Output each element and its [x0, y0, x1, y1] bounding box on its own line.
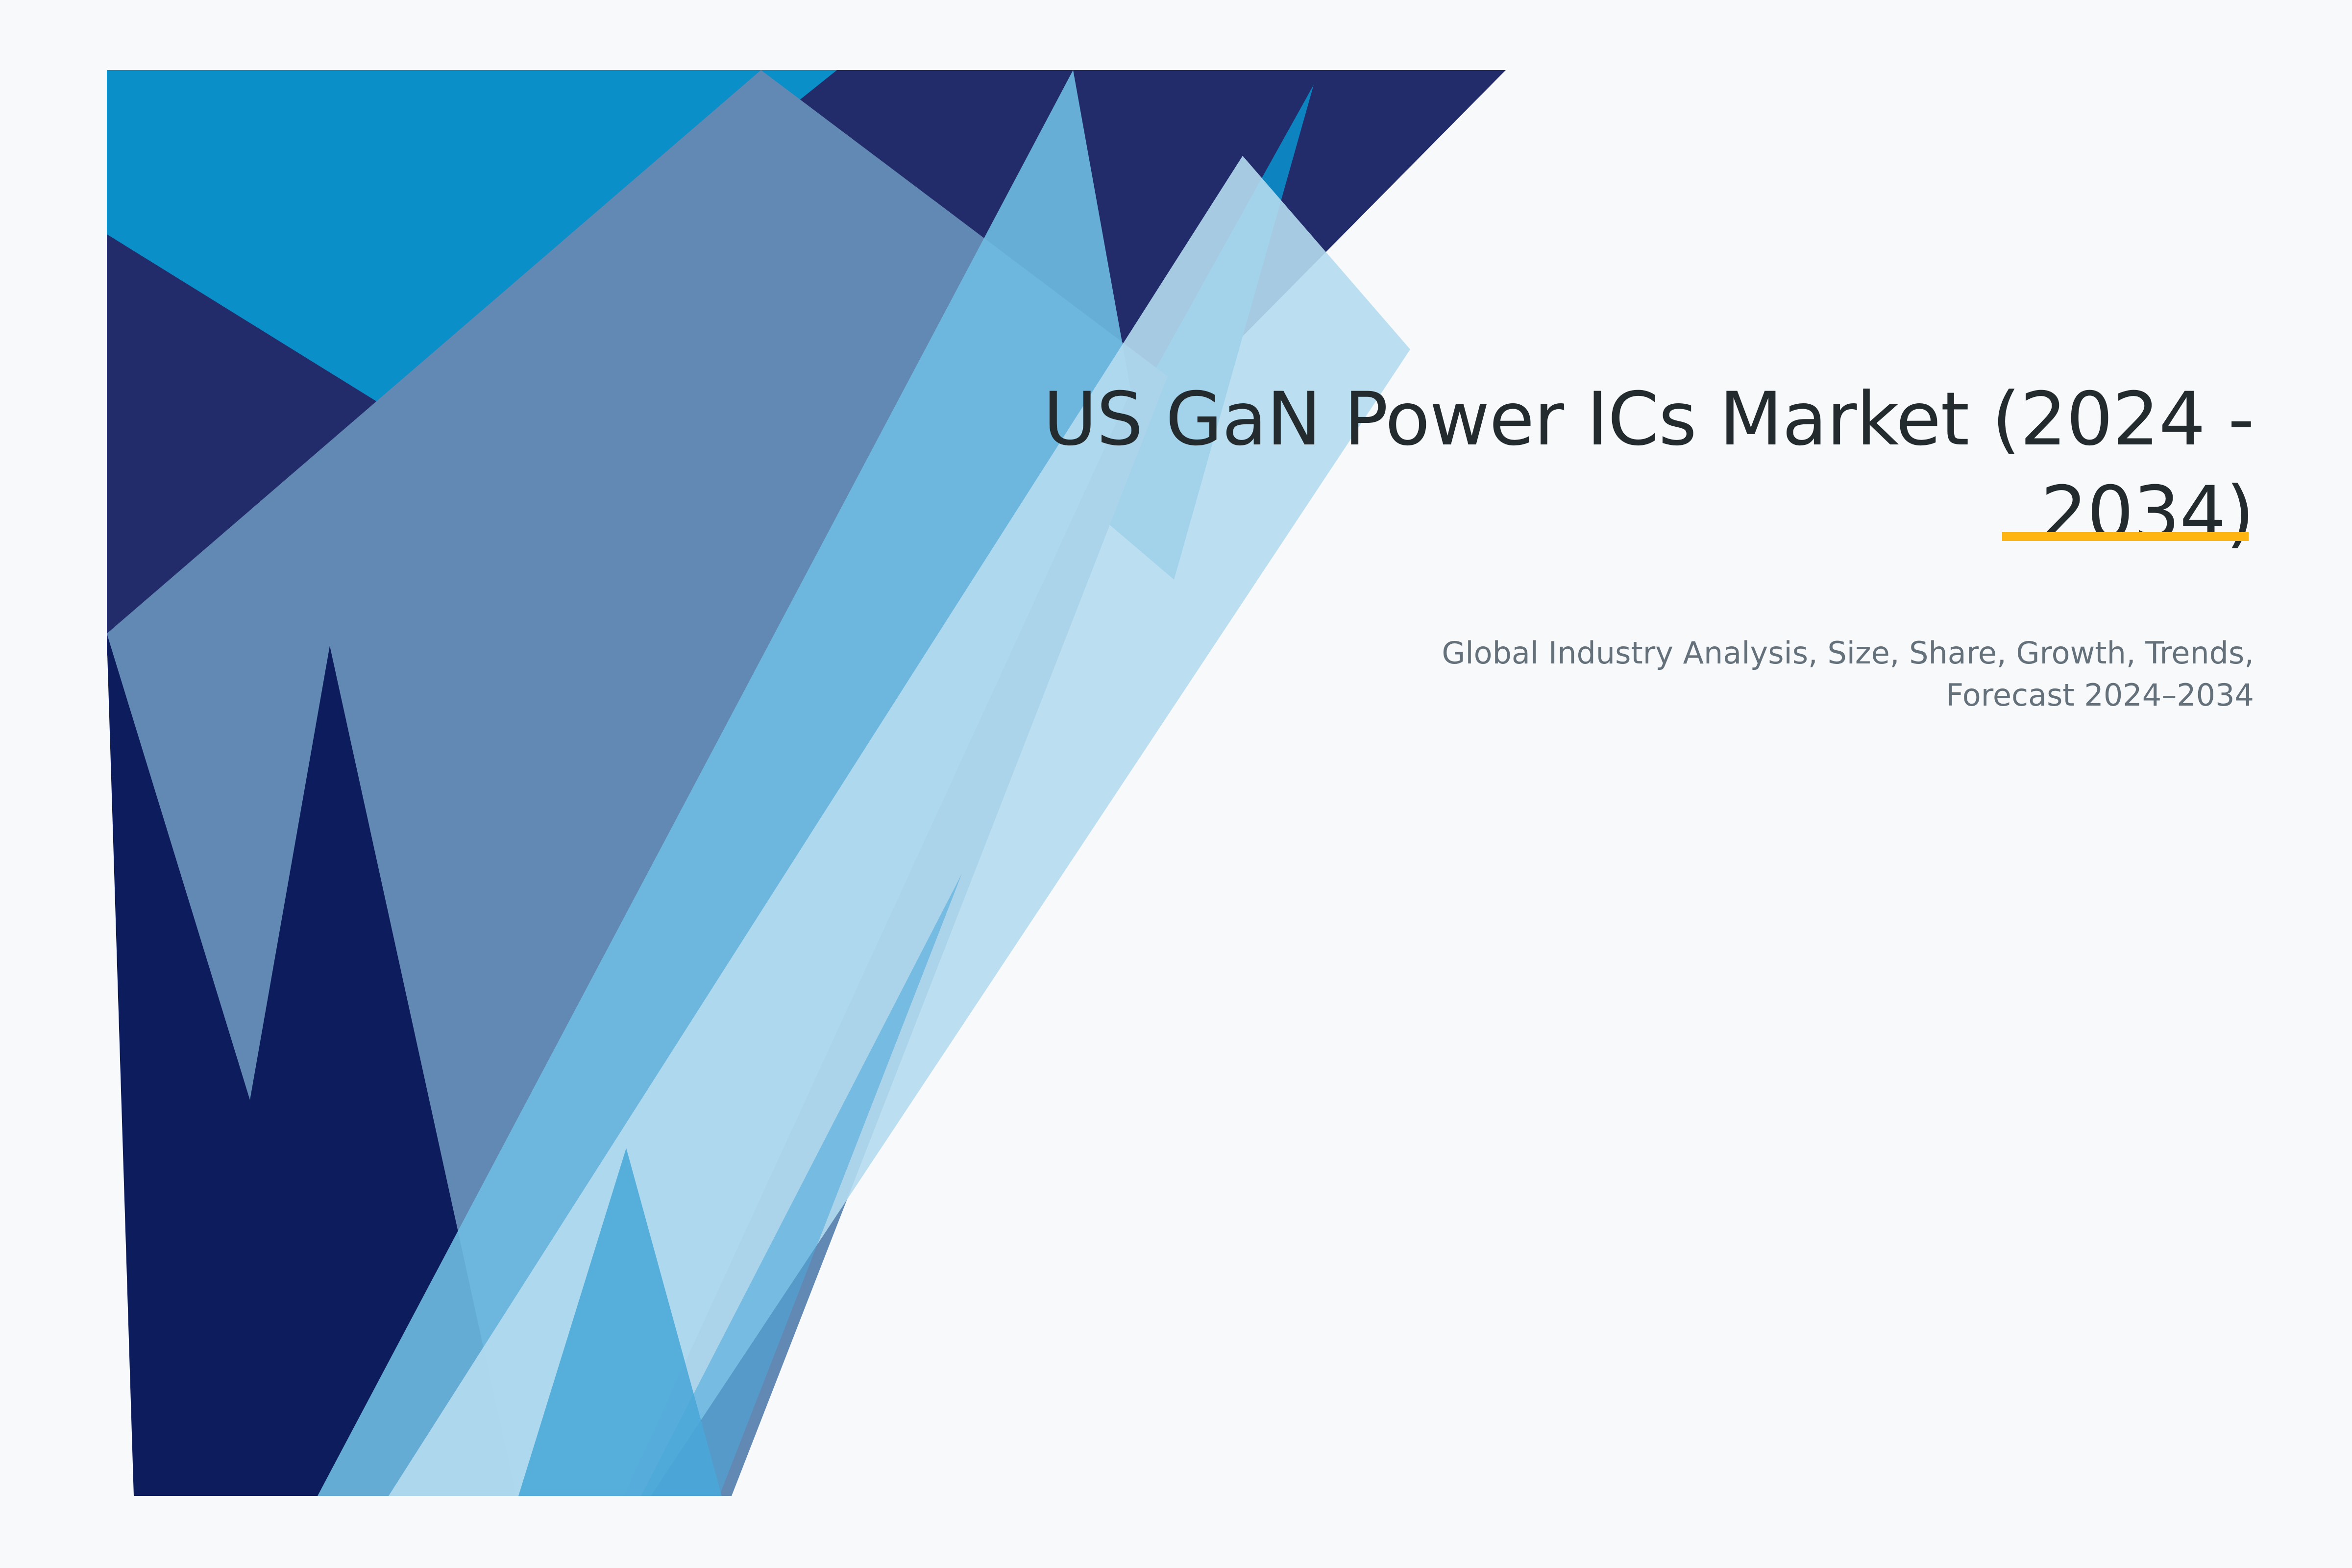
title-accent-rule: [2002, 532, 2249, 541]
artwork-svg: [107, 70, 1508, 1496]
abstract-polygon-artwork: [107, 70, 1508, 1496]
cover-slide: US GaN Power ICs Market (2024 - 2034) Gl…: [0, 0, 2352, 1568]
page-subtitle: Global Industry Analysis, Size, Share, G…: [1421, 632, 2254, 716]
